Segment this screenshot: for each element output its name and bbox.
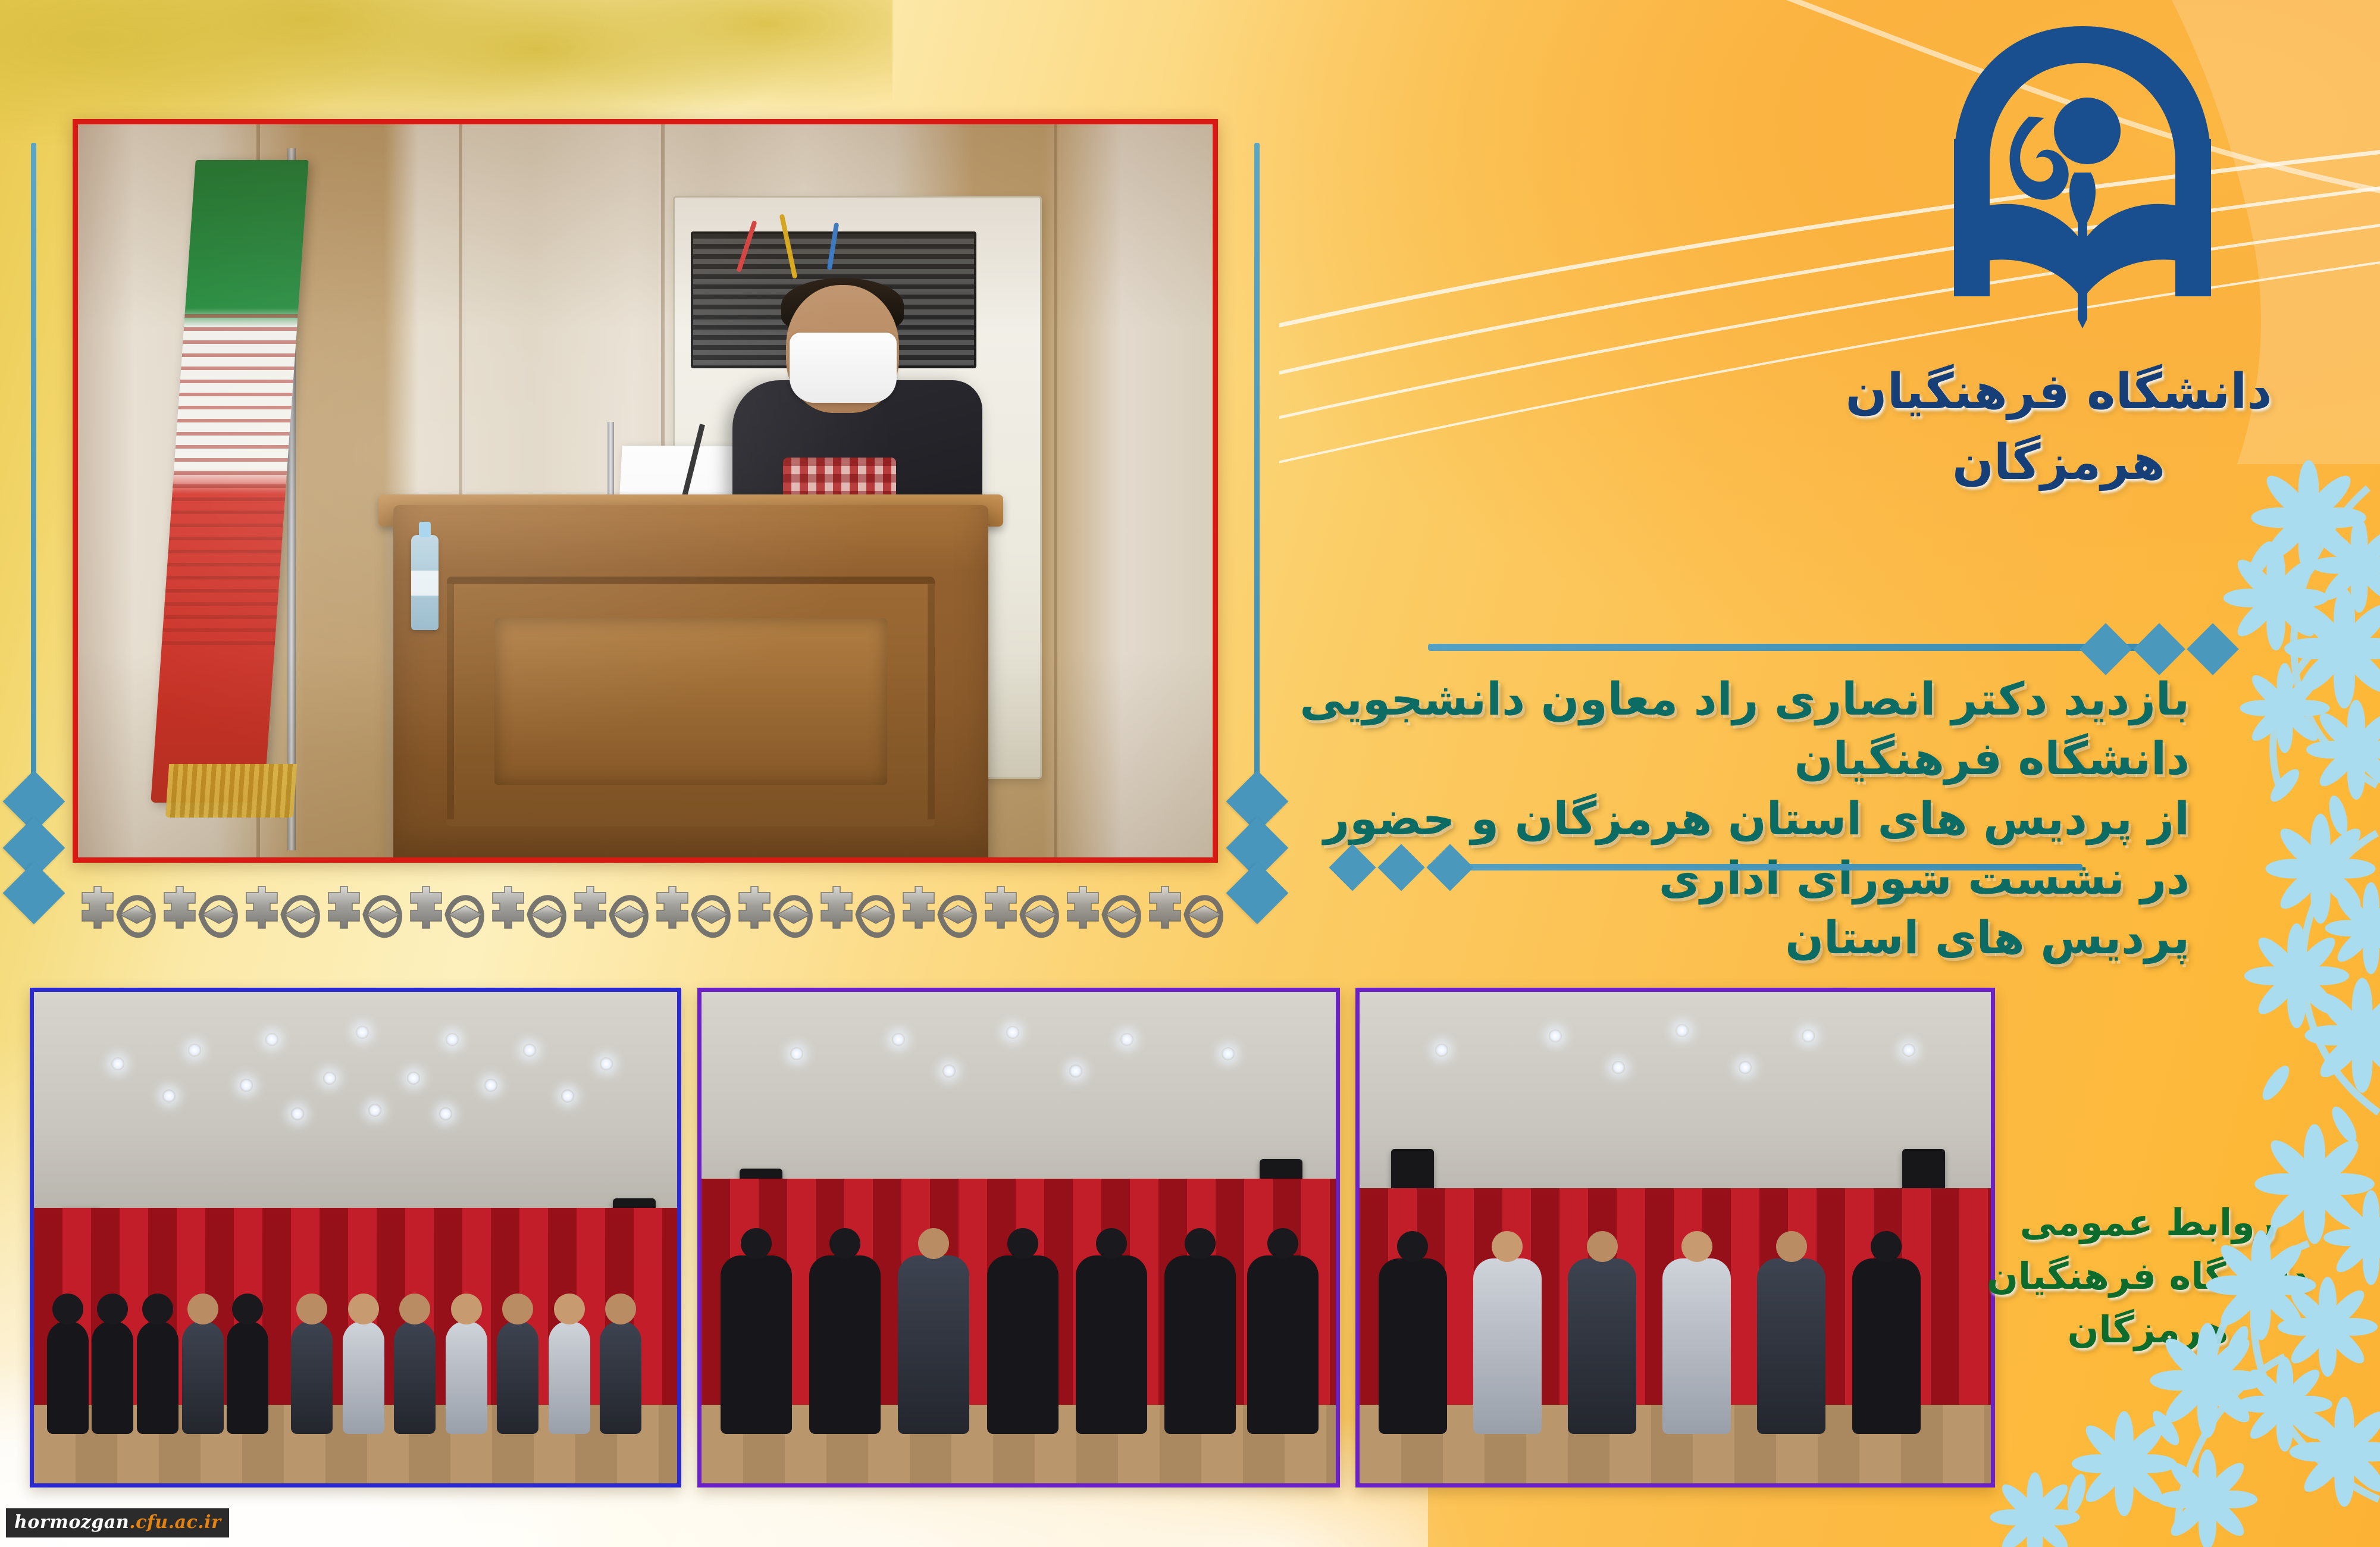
thumb-officials-seated	[1355, 988, 1995, 1487]
headline-diamond-b1	[1426, 844, 1473, 891]
headline-diamonds-bottom	[1336, 851, 1467, 884]
poster-canvas: دانشگاه فرهنگیان	[0, 0, 2380, 1547]
farhangian-university-emblem-icon	[1928, 17, 2237, 338]
headline-text: بازدید دکتر انصاری راد معاون دانشجویی دا…	[1285, 669, 2190, 968]
public-relations-credit: روابط عمومی دانشگاه فرهنگیان هرمزگان	[1981, 1196, 2315, 1357]
credit-line1: روابط عمومی	[1981, 1196, 2315, 1249]
right-diamond-3	[1226, 862, 1289, 925]
left-diamond-3	[3, 862, 65, 925]
headline-rule-top	[1428, 644, 2154, 651]
ornamental-border-band	[77, 882, 1226, 947]
headline-rule-bottom	[1428, 864, 2082, 870]
headline-diamonds-top	[2087, 631, 2231, 668]
watermark-secondary: .cfu.ac.ir	[129, 1512, 221, 1533]
watermark-primary: hormozgan	[14, 1512, 129, 1533]
headline-diamond-b3	[1329, 844, 1376, 891]
left-vertical-rule	[31, 143, 36, 791]
thumb-women-seated-front-row	[697, 988, 1340, 1487]
university-title-line2: هرمزگان	[1821, 428, 2297, 499]
headline-diamond-b2	[1377, 844, 1424, 891]
credit-line2: دانشگاه فرهنگیان	[1981, 1249, 2315, 1303]
right-vertical-rule	[1254, 143, 1260, 791]
headline-diamond-t2	[2133, 623, 2185, 675]
headline-line1: بازدید دکتر انصاری راد معاون دانشجویی دا…	[1285, 669, 2190, 789]
site-watermark: hormozgan.cfu.ac.ir	[6, 1508, 229, 1537]
headline-diamond-t3	[2080, 623, 2132, 675]
headline-diamond-t1	[2187, 623, 2239, 675]
floral-decoration	[1928, 452, 2380, 1547]
university-title: دانشگاه فرهنگیان هرمزگان	[1821, 357, 2297, 499]
credit-line3: هرمزگان	[1981, 1303, 2315, 1357]
headline-line2: از پردیس های استان هرمزگان و حضور در نشس…	[1285, 789, 2190, 909]
university-title-line1: دانشگاه فرهنگیان	[1821, 357, 2297, 428]
thumb-hall-wide-view	[30, 988, 681, 1487]
main-photo-speaker-at-podium: دانشگاه فرهنگیان	[73, 119, 1218, 863]
headline-line3: پردیس های استان	[1285, 908, 2190, 967]
thumbnail-photo-row	[30, 988, 1993, 1487]
university-logo	[1928, 17, 2237, 338]
